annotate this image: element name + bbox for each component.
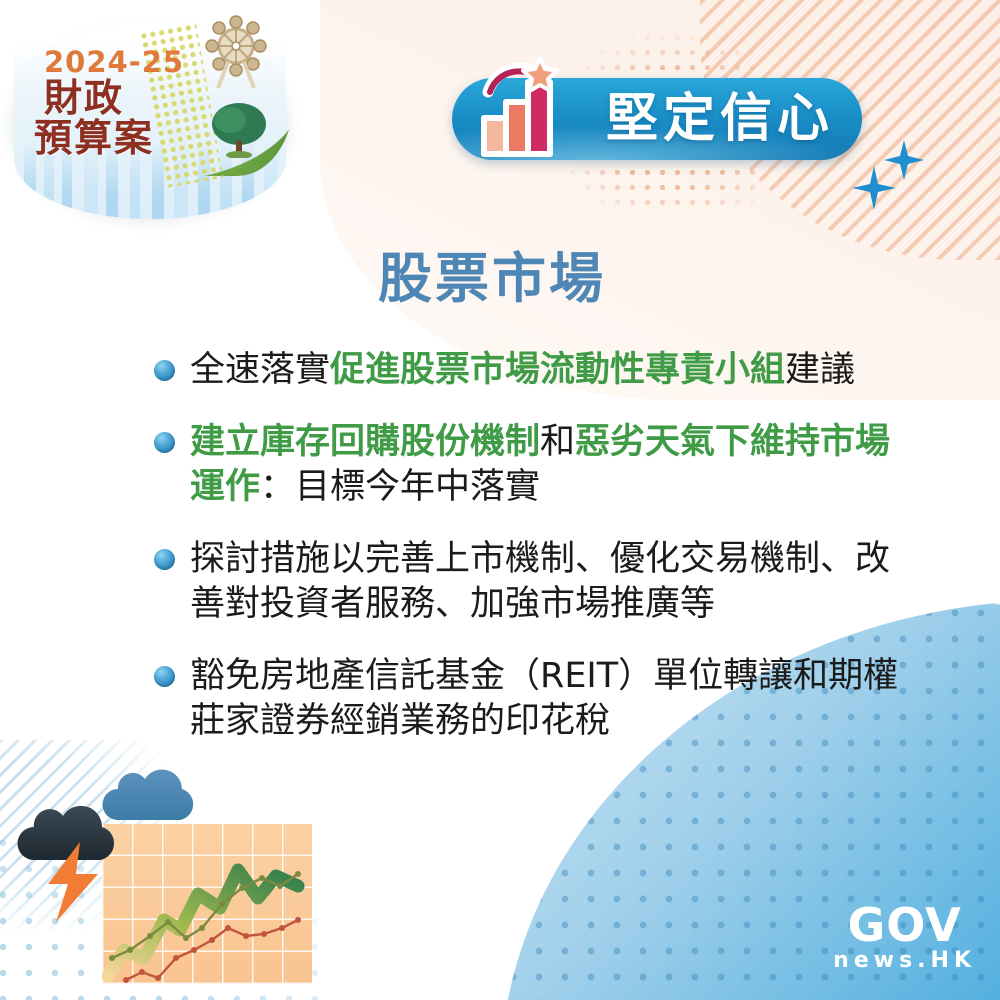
rising-line-chart-icon [102,824,312,984]
bullet-dot-icon [154,432,175,453]
bar-chart-star-icon [468,52,580,164]
bullet-text-segment-emphasis: 促進股票市場流動性專責小組 [330,350,785,390]
logo-sub-text: news.HK [833,950,976,972]
list-item: 全速落實促進股票市場流動性專責小組建議 [150,348,920,394]
sparkle-icon [852,136,932,212]
stock-chart-illustration [92,812,332,992]
emblem-text-block: 2024-25 財政 預算案 [44,48,224,157]
bullet-dot-icon [154,549,175,570]
gov-news-logo: GOV news.HK [833,902,976,972]
list-item: 建立庫存回購股份機制和惡劣天氣下維持市場運作：目標今年中落實 [150,420,920,511]
bullet-dot-icon [154,666,175,687]
bullet-text-segment-emphasis: 建立庫存回購股份機制 [190,422,540,462]
list-item: 探討措施以完善上市機制、優化交易機制、改善對投資者服務、加強市場推廣等 [150,537,920,628]
chart-lines [102,824,312,984]
infographic-poster: 2024-25 財政 預算案 堅定信心 股票市場 全速落實促進股票市場流動性專責… [0,0,1000,1000]
bullet-text-segment: 建議 [785,350,855,390]
emblem-line1: 財政 [44,79,224,117]
list-item: 豁免房地產信託基金（REIT）單位轉讓和期權莊家證券經銷業務的印花稅 [150,654,920,745]
bullet-text-segment: ：目標今年中落實 [260,467,540,507]
logo-main-text: GOV [833,902,976,948]
emblem-year: 2024-25 [44,48,224,77]
bullet-text-segment: 豁免房地產信託基金（REIT）單位轉讓和期權莊家證券經銷業務的印花稅 [190,656,898,742]
bullet-dot-icon [154,360,175,381]
bullet-text-segment: 全速落實 [190,350,330,390]
budget-emblem: 2024-25 財政 預算案 [8,8,298,223]
bullet-text-segment: 探討措施以完善上市機制、優化交易機制、改善對投資者服務、加強市場推廣等 [190,539,890,625]
page-title: 股票市場 [378,252,606,306]
emblem-line2: 預算案 [34,119,224,157]
lightning-bolt-icon [44,840,106,924]
bullet-list: 全速落實促進股票市場流動性專責小組建議 建立庫存回購股份機制和惡劣天氣下維持市場… [150,348,920,771]
bullet-text-segment: 和 [540,422,575,462]
header-title: 堅定信心 [606,93,834,145]
